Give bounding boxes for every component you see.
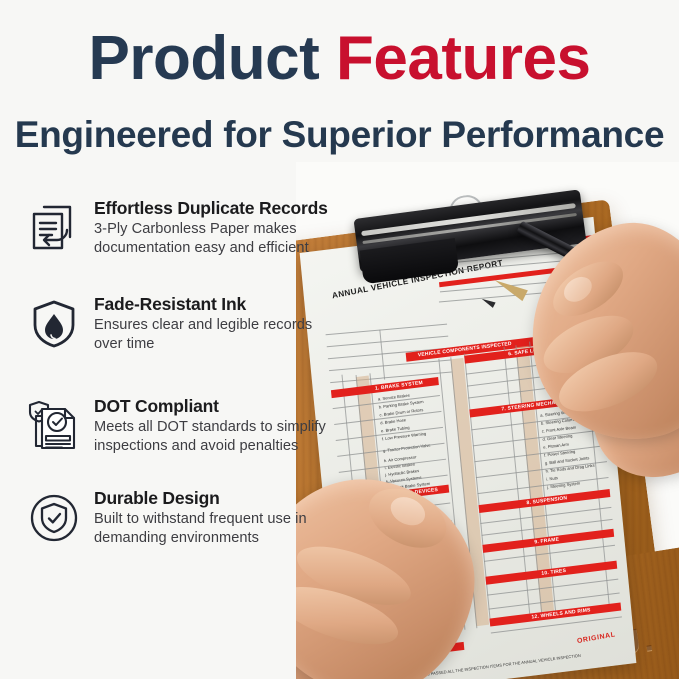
feature-description: Meets all DOT standards to simplify insp… bbox=[94, 418, 326, 455]
document-check-shield-icon bbox=[22, 394, 86, 458]
form-rule bbox=[329, 360, 450, 371]
feature-title: Durable Design bbox=[94, 488, 307, 509]
form-rule bbox=[379, 330, 384, 380]
feature-description: Built to withstand frequent use in deman… bbox=[94, 510, 307, 547]
feature-item-durable-design: Durable Design Built to withstand freque… bbox=[22, 486, 342, 552]
page-title: Product Features bbox=[0, 23, 679, 95]
duplicate-documents-icon bbox=[22, 196, 86, 260]
feature-description-line-2: documentation easy and efficient bbox=[94, 239, 328, 258]
feature-text: Fade-Resistant Ink Ensures clear and leg… bbox=[94, 292, 312, 353]
feature-list: Effortless Duplicate Records 3-Ply Carbo… bbox=[22, 196, 342, 574]
form-section-label: 10. TIRES bbox=[541, 568, 566, 578]
form-section-label: 9. FRAME bbox=[534, 537, 559, 547]
feature-description: 3-Ply Carbonless Paper makes documentati… bbox=[94, 220, 328, 257]
feature-description-line-1: Ensures clear and legible records bbox=[94, 316, 312, 335]
product-photo-clipboard: BUCK U. ANNUAL VEHICLE INSPECTION REPORT bbox=[296, 162, 679, 679]
feature-title: Effortless Duplicate Records bbox=[94, 198, 328, 219]
feature-description: Ensures clear and legible records over t… bbox=[94, 316, 312, 353]
feature-title: DOT Compliant bbox=[94, 396, 326, 417]
feature-description-line-1: Meets all DOT standards to simplify bbox=[94, 418, 326, 437]
page-title-primary: Product bbox=[89, 24, 320, 93]
page-subtitle: Engineered for Superior Performance bbox=[0, 112, 679, 158]
feature-title: Fade-Resistant Ink bbox=[94, 294, 312, 315]
feature-text: Effortless Duplicate Records 3-Ply Carbo… bbox=[94, 196, 328, 257]
page-title-accent: Features bbox=[336, 24, 590, 93]
shield-check-circle-icon bbox=[22, 486, 86, 550]
feature-item-fade-resistant-ink: Fade-Resistant Ink Ensures clear and leg… bbox=[22, 292, 342, 358]
form-rule bbox=[326, 324, 447, 335]
form-rule bbox=[327, 336, 448, 347]
infographic-canvas: Product Features Engineered for Superior… bbox=[0, 0, 679, 679]
feature-text: DOT Compliant Meets all DOT standards to… bbox=[94, 394, 326, 455]
feature-text: Durable Design Built to withstand freque… bbox=[94, 486, 307, 547]
feature-description-line-2: over time bbox=[94, 335, 312, 354]
shield-ink-drop-icon bbox=[22, 292, 86, 356]
form-section-label: 1. BRAKE SYSTEM bbox=[375, 380, 424, 393]
feature-description-line-2: demanding environments bbox=[94, 529, 307, 548]
form-rule bbox=[337, 443, 444, 457]
feature-description-line-2: inspections and avoid penalties bbox=[94, 437, 326, 456]
form-item: i. Nuts bbox=[546, 475, 558, 483]
original-stamp: ORIGINAL bbox=[577, 631, 617, 645]
feature-item-dot-compliant: DOT Compliant Meets all DOT standards to… bbox=[22, 394, 342, 460]
feature-description-line-1: Built to withstand frequent use in bbox=[94, 510, 307, 529]
feature-item-duplicate-records: Effortless Duplicate Records 3-Ply Carbo… bbox=[22, 196, 342, 262]
feature-description-line-1: 3-Ply Carbonless Paper makes bbox=[94, 220, 328, 239]
